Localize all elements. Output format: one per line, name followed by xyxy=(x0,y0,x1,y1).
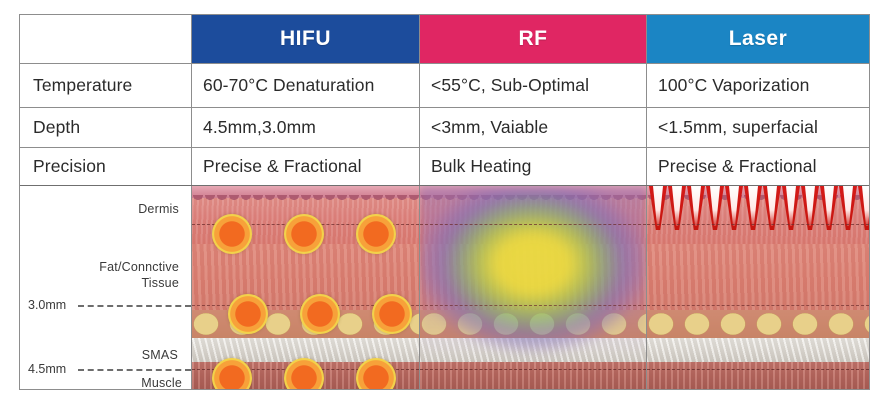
cell-depth-laser: <1.5mm, superfacial xyxy=(646,108,869,147)
muscle-texture xyxy=(420,362,646,389)
hifu-focal-point xyxy=(300,294,340,334)
cell-temperature-hifu: 60-70°C Denaturation xyxy=(191,64,419,107)
hifu-focal-point xyxy=(284,214,324,254)
header-cell-rf: RF xyxy=(419,15,646,63)
laser-dashed-level-3 xyxy=(647,369,869,370)
laser-dashed-level-1 xyxy=(647,224,869,225)
muscle-layer xyxy=(647,362,869,389)
legend-dermis: Dermis xyxy=(138,202,179,216)
rf-dashed-level-3 xyxy=(420,369,646,370)
muscle-texture xyxy=(647,362,869,389)
header-cell-laser: Laser xyxy=(646,15,869,63)
smas-layer xyxy=(647,338,869,364)
hifu-focal-point xyxy=(228,294,268,334)
legend-depth-3mm: 3.0mm xyxy=(28,298,66,312)
laser-dashed-level-2 xyxy=(647,305,869,306)
skin-cross-section-laser xyxy=(647,186,869,389)
table-row-precision: Precision Precise & Fractional Bulk Heat… xyxy=(20,147,869,185)
skin-cross-section-rf xyxy=(420,186,646,389)
header-cell-hifu: HIFU xyxy=(191,15,419,63)
illustration-rf xyxy=(419,186,646,389)
header-blank-cell xyxy=(20,15,191,63)
cell-depth-rf: <3mm, Vaiable xyxy=(419,108,646,147)
cell-temperature-rf: <55°C, Sub-Optimal xyxy=(419,64,646,107)
legend-fat-tissue-line2: Tissue xyxy=(141,276,179,290)
rf-bulk-heating-plume xyxy=(419,190,646,358)
hifu-focal-point xyxy=(356,214,396,254)
table-header-row: HIFU RF Laser xyxy=(20,15,869,63)
depth-3mm-dashed-line xyxy=(78,305,191,307)
legend-depth-45mm: 4.5mm xyxy=(28,362,66,376)
table-row-temperature: Temperature 60-70°C Denaturation <55°C, … xyxy=(20,63,869,107)
table-row-illustration: Dermis Fat/Connctive Tissue 3.0mm SMAS 4… xyxy=(20,185,869,389)
rf-dashed-level-2 xyxy=(420,305,646,306)
illustration-hifu xyxy=(191,186,419,389)
muscle-layer xyxy=(420,362,646,389)
legend-smas: SMAS xyxy=(142,348,178,362)
depth-45mm-dashed-line xyxy=(78,369,191,371)
cell-depth-hifu: 4.5mm,3.0mm xyxy=(191,108,419,147)
smas-texture xyxy=(647,338,869,364)
table-row-depth: Depth 4.5mm,3.0mm <3mm, Vaiable <1.5mm, … xyxy=(20,107,869,147)
legend-muscle: Muscle xyxy=(141,376,182,390)
cell-precision-rf: Bulk Heating xyxy=(419,148,646,185)
cell-temperature-laser: 100°C Vaporization xyxy=(646,64,869,107)
rf-dashed-level-1 xyxy=(420,224,646,225)
illustration-laser xyxy=(646,186,869,389)
legend-fat-tissue-line1: Fat/Connctive xyxy=(99,260,179,274)
comparison-table: HIFU RF Laser Temperature 60-70°C Denatu… xyxy=(19,14,870,390)
skin-layer-legend: Dermis Fat/Connctive Tissue 3.0mm SMAS 4… xyxy=(20,186,191,389)
row-label-temperature: Temperature xyxy=(20,64,191,107)
cell-precision-hifu: Precise & Fractional xyxy=(191,148,419,185)
hifu-focal-point xyxy=(372,294,412,334)
epidermis-rete-ridges xyxy=(192,195,419,203)
hifu-focal-point xyxy=(212,214,252,254)
row-label-precision: Precision xyxy=(20,148,191,185)
comparison-figure: HIFU RF Laser Temperature 60-70°C Denatu… xyxy=(0,0,890,403)
row-label-depth: Depth xyxy=(20,108,191,147)
cell-precision-laser: Precise & Fractional xyxy=(646,148,869,185)
